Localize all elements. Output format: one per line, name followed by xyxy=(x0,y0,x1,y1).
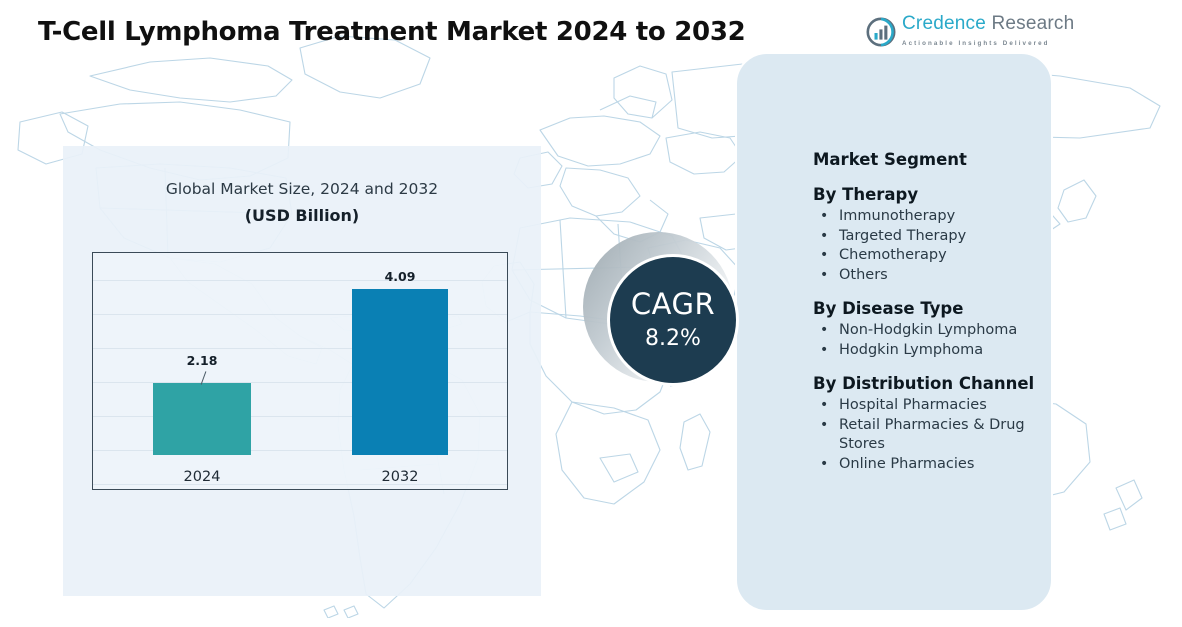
cagr-badge: CAGR 8.2% xyxy=(583,232,763,407)
market-segment-content: Market Segment By Therapy •Immunotherapy… xyxy=(813,150,1053,488)
bullet-icon: • xyxy=(820,455,828,475)
bullet-icon: • xyxy=(820,246,828,266)
logo-brand-second: Research xyxy=(986,13,1074,34)
list-item-label: Immunotherapy xyxy=(839,208,955,224)
bar-chart-plot-area: 2.18 4.09 2024 2032 xyxy=(92,252,508,490)
list-item: •Targeted Therapy xyxy=(813,227,1053,247)
category-label-2032: 2032 xyxy=(352,469,448,485)
bar-2032 xyxy=(352,289,448,455)
list-item: •Others xyxy=(813,266,1053,286)
list-item-label: Hodgkin Lymphoma xyxy=(839,342,983,358)
list-item-label: Non-Hodgkin Lymphoma xyxy=(839,322,1017,338)
bullet-icon: • xyxy=(820,396,828,416)
segment-heading-disease-type: By Disease Type xyxy=(813,299,1053,318)
segment-list-distribution-channel: •Hospital Pharmacies •Retail Pharmacies … xyxy=(813,396,1053,474)
category-label-2024: 2024 xyxy=(153,469,251,485)
chart-title: Global Market Size, 2024 and 2032 xyxy=(63,180,541,198)
bar-chart-circle-icon xyxy=(866,17,896,47)
bullet-icon: • xyxy=(820,227,828,247)
cagr-label: CAGR xyxy=(631,290,715,319)
list-item: •Non-Hodgkin Lymphoma xyxy=(813,321,1053,341)
bar-value-2032: 4.09 xyxy=(353,269,447,284)
bullet-icon: • xyxy=(820,341,828,361)
list-item-label: Online Pharmacies xyxy=(839,456,974,472)
bar-2024 xyxy=(153,383,251,455)
credence-research-logo: Credence Research Actionable Insights De… xyxy=(866,14,1182,49)
bullet-icon: • xyxy=(820,416,828,436)
list-item: •Immunotherapy xyxy=(813,207,1053,227)
list-item-label: Others xyxy=(839,267,888,283)
logo-brand-first: Credence xyxy=(902,13,986,34)
bar-value-2024: 2.18 xyxy=(155,353,249,368)
segment-heading-distribution-channel: By Distribution Channel xyxy=(813,374,1053,393)
list-item-label: Chemotherapy xyxy=(839,247,947,263)
logo-tagline: Actionable Insights Delivered xyxy=(902,40,1050,47)
segment-group-disease-type: By Disease Type •Non-Hodgkin Lymphoma •H… xyxy=(813,299,1053,360)
chart-subtitle: (USD Billion) xyxy=(63,206,541,225)
list-item: •Hodgkin Lymphoma xyxy=(813,341,1053,361)
list-item: •Online Pharmacies xyxy=(813,455,1053,475)
segment-group-distribution-channel: By Distribution Channel •Hospital Pharma… xyxy=(813,374,1053,474)
list-item: •Hospital Pharmacies xyxy=(813,396,1053,416)
page-title: T-Cell Lymphoma Treatment Market 2024 to… xyxy=(38,17,745,47)
segment-list-therapy: •Immunotherapy •Targeted Therapy •Chemot… xyxy=(813,207,1053,285)
segment-group-therapy: By Therapy •Immunotherapy •Targeted Ther… xyxy=(813,185,1053,285)
cagr-value: 8.2% xyxy=(645,328,701,350)
list-item-label: Targeted Therapy xyxy=(839,228,966,244)
list-item: •Retail Pharmacies & Drug Stores xyxy=(813,416,1053,455)
bullet-icon: • xyxy=(820,266,828,286)
list-item-label: Hospital Pharmacies xyxy=(839,397,987,413)
bullet-icon: • xyxy=(820,207,828,227)
bullet-icon: • xyxy=(820,321,828,341)
list-item: •Chemotherapy xyxy=(813,246,1053,266)
list-item-label: Retail Pharmacies & Drug Stores xyxy=(839,417,1025,453)
market-segment-title: Market Segment xyxy=(813,150,1053,169)
infographic-canvas: T-Cell Lymphoma Treatment Market 2024 to… xyxy=(0,0,1182,627)
logo-brand-text: Credence Research xyxy=(902,13,1074,34)
segment-heading-therapy: By Therapy xyxy=(813,185,1053,204)
segment-list-disease-type: •Non-Hodgkin Lymphoma •Hodgkin Lymphoma xyxy=(813,321,1053,360)
cagr-circle: CAGR 8.2% xyxy=(607,254,739,386)
